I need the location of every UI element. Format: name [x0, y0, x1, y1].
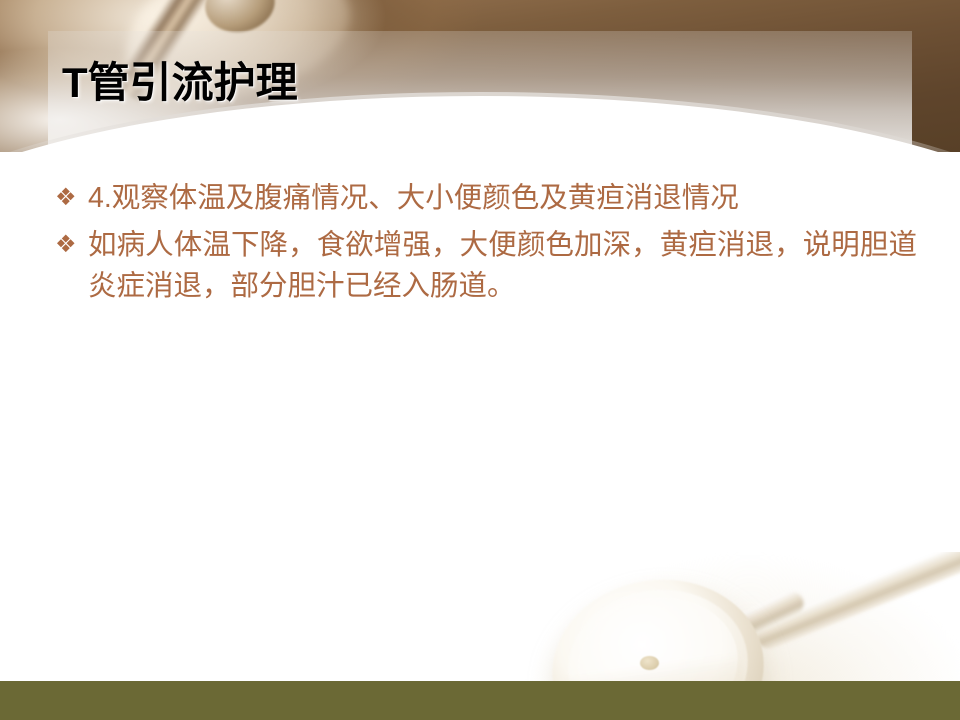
list-item: ❖ 如病人体温下降，食欲增强，大便颜色加深，黄疸消退，说明胆道炎症消退，部分胆汁… [55, 225, 917, 306]
stethoscope-stem-icon [689, 588, 808, 660]
footer-bar [0, 681, 960, 720]
list-item-text: 4.观察体温及腹痛情况、大小便颜色及黄疸消退情况 [88, 182, 739, 214]
diamond-bullet-icon: ❖ [55, 226, 77, 264]
page-title: T管引流护理 [62, 62, 298, 105]
slide-header-banner: T管引流护理 [0, 0, 960, 152]
list-item-text: 如病人体温下降，食欲增强，大便颜色加深，黄疸消退，说明胆道炎症消退，部分胆汁已经… [88, 229, 917, 301]
diamond-bullet-icon: ❖ [55, 179, 77, 217]
stethoscope-diaphragm-dot [640, 656, 659, 670]
bullet-list: ❖ 4.观察体温及腹痛情况、大小便颜色及黄疸消退情况 ❖ 如病人体温下降，食欲增… [55, 178, 917, 313]
slide-body: ❖ 4.观察体温及腹痛情况、大小便颜色及黄疸消退情况 ❖ 如病人体温下降，食欲增… [0, 152, 960, 680]
list-item: ❖ 4.观察体温及腹痛情况、大小便颜色及黄疸消退情况 [55, 178, 917, 218]
slide: T管引流护理 ❖ 4.观察体温及腹痛情况、大小便颜色及黄疸消退情况 ❖ 如病人体… [0, 0, 960, 720]
stethoscope-tube-icon [752, 552, 960, 653]
